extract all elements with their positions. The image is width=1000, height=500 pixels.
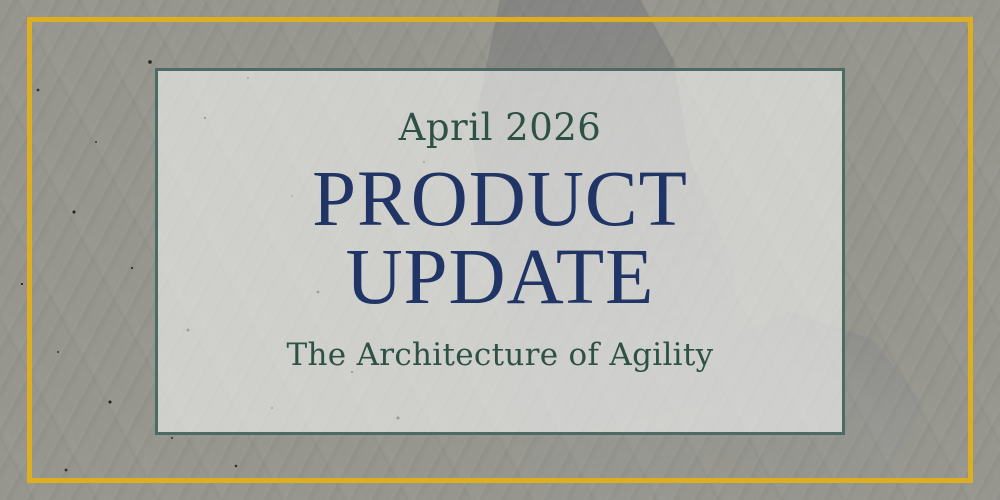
promo-banner: April 2026 PRODUCT UPDATE The Architectu… [0, 0, 1000, 500]
page-title-line-2: UPDATE [312, 240, 688, 316]
page-title: PRODUCT UPDATE [312, 162, 688, 316]
page-title-line-1: PRODUCT [312, 156, 688, 243]
issue-date: April 2026 [399, 109, 602, 146]
page-subtitle: The Architecture of Agility [287, 340, 714, 371]
content-panel: April 2026 PRODUCT UPDATE The Architectu… [155, 68, 845, 435]
